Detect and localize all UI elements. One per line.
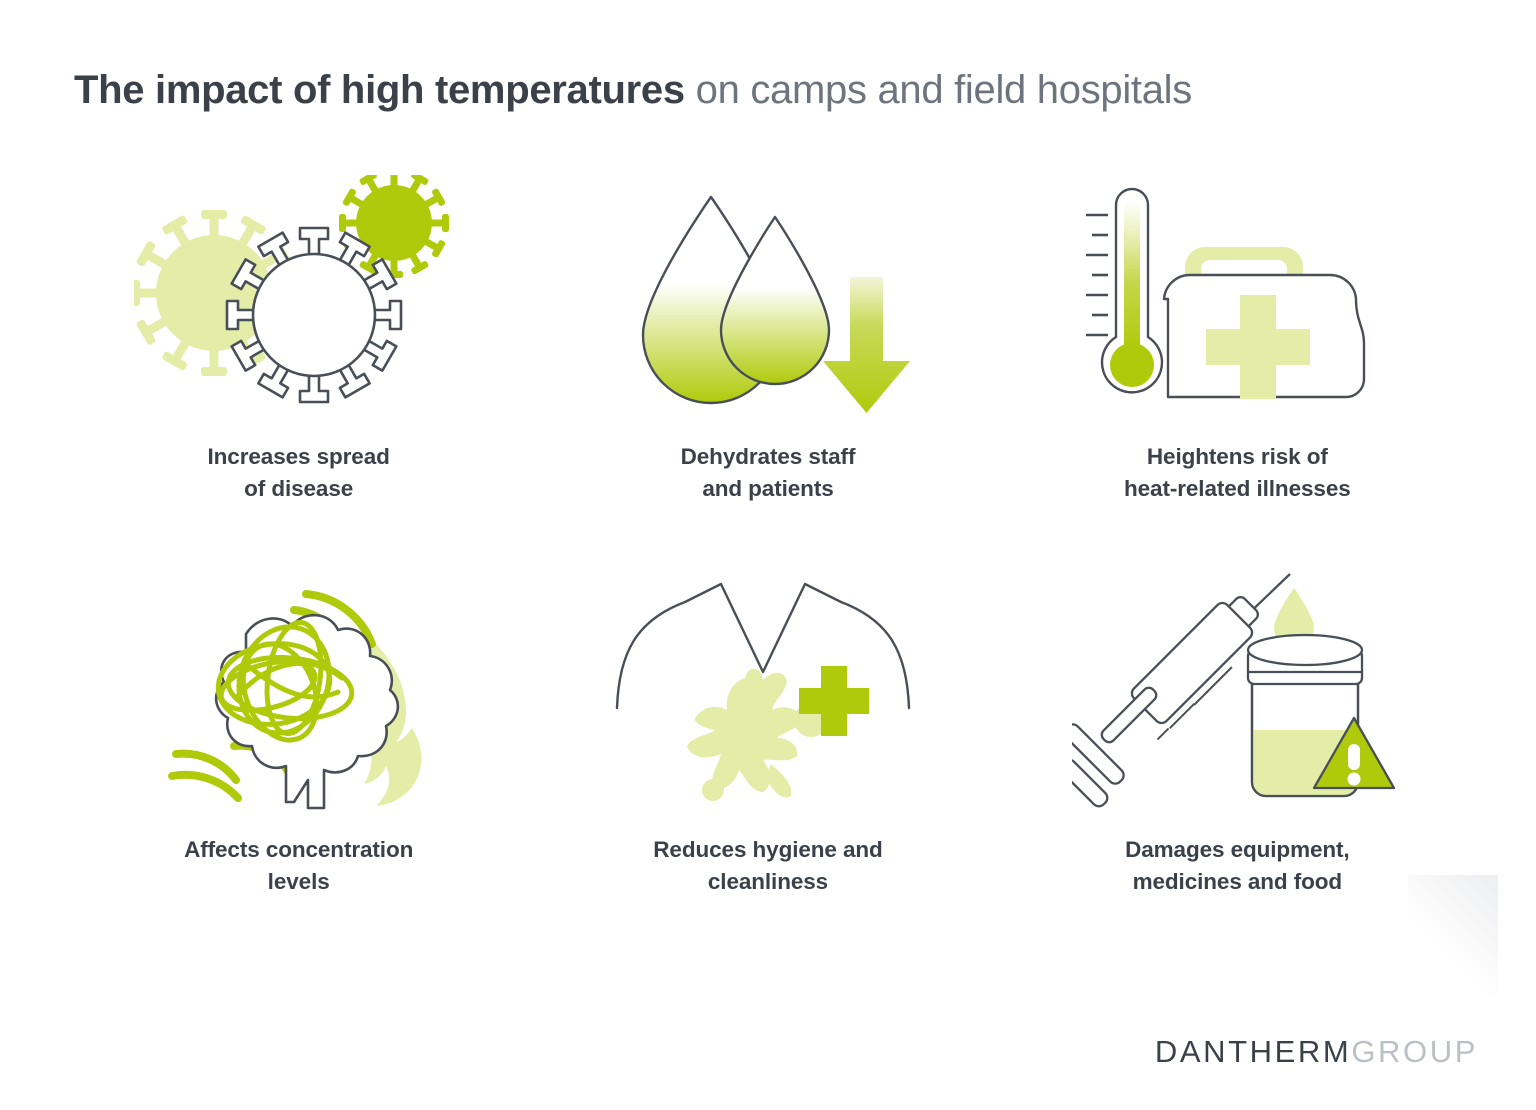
impact-item-label: Affects concentration levels: [184, 834, 413, 898]
impact-item-heightens-risk-of-heat-related-illnesses: Heightens risk of heat-related illnesses: [1003, 173, 1472, 566]
thermometer-icon: [1086, 189, 1162, 392]
dantherm-group-logo: DANTHERMGROUP: [1155, 1034, 1478, 1070]
thermometer-ticks: [1086, 215, 1108, 335]
syringe-vial-warning-icon: [1067, 566, 1407, 828]
impact-item-label: Dehydrates staff and patients: [681, 441, 856, 505]
impact-item-label: Increases spread of disease: [208, 441, 390, 505]
water-drops-down-arrow-icon: [598, 173, 938, 435]
impact-grid: Increases spread of disease: [38, 155, 1498, 997]
thermometer-medical-bag-icon: [1067, 173, 1407, 435]
down-arrow-icon: [823, 277, 910, 413]
infographic-page: The impact of high temperatures on camps…: [0, 0, 1536, 1110]
page-title: The impact of high temperatures on camps…: [74, 67, 1192, 113]
brain-flame-icon: [129, 566, 469, 828]
impact-item-reduces-hygiene-and-cleanliness: Reduces hygiene and cleanliness: [533, 566, 1002, 959]
impact-item-label: Damages equipment, medicines and food: [1125, 834, 1350, 898]
impact-item-dehydrates-staff-and-patients: Dehydrates staff and patients: [533, 173, 1002, 566]
logo-group: GROUP: [1351, 1034, 1478, 1069]
logo-dantherm: DANTHERM: [1155, 1034, 1351, 1069]
scrubs-stain-icon: [598, 566, 938, 828]
page-title-light: on camps and field hospitals: [685, 68, 1192, 112]
impact-item-damages-equipment-medicines-and-food: Damages equipment, medicines and food: [1003, 566, 1472, 959]
impact-item-label: Reduces hygiene and cleanliness: [653, 834, 882, 898]
impact-item-label: Heightens risk of heat-related illnesses: [1124, 441, 1351, 505]
content-card: Increases spread of disease: [38, 155, 1498, 997]
impact-item-increases-spread-of-disease: Increases spread of disease: [64, 173, 533, 566]
page-title-strong: The impact of high temperatures: [74, 68, 685, 112]
medical-bag-body: [1164, 275, 1364, 399]
impact-item-affects-concentration-levels: Affects concentration levels: [64, 566, 533, 959]
virus-icon: [129, 173, 469, 435]
virus-bright: [339, 175, 449, 278]
